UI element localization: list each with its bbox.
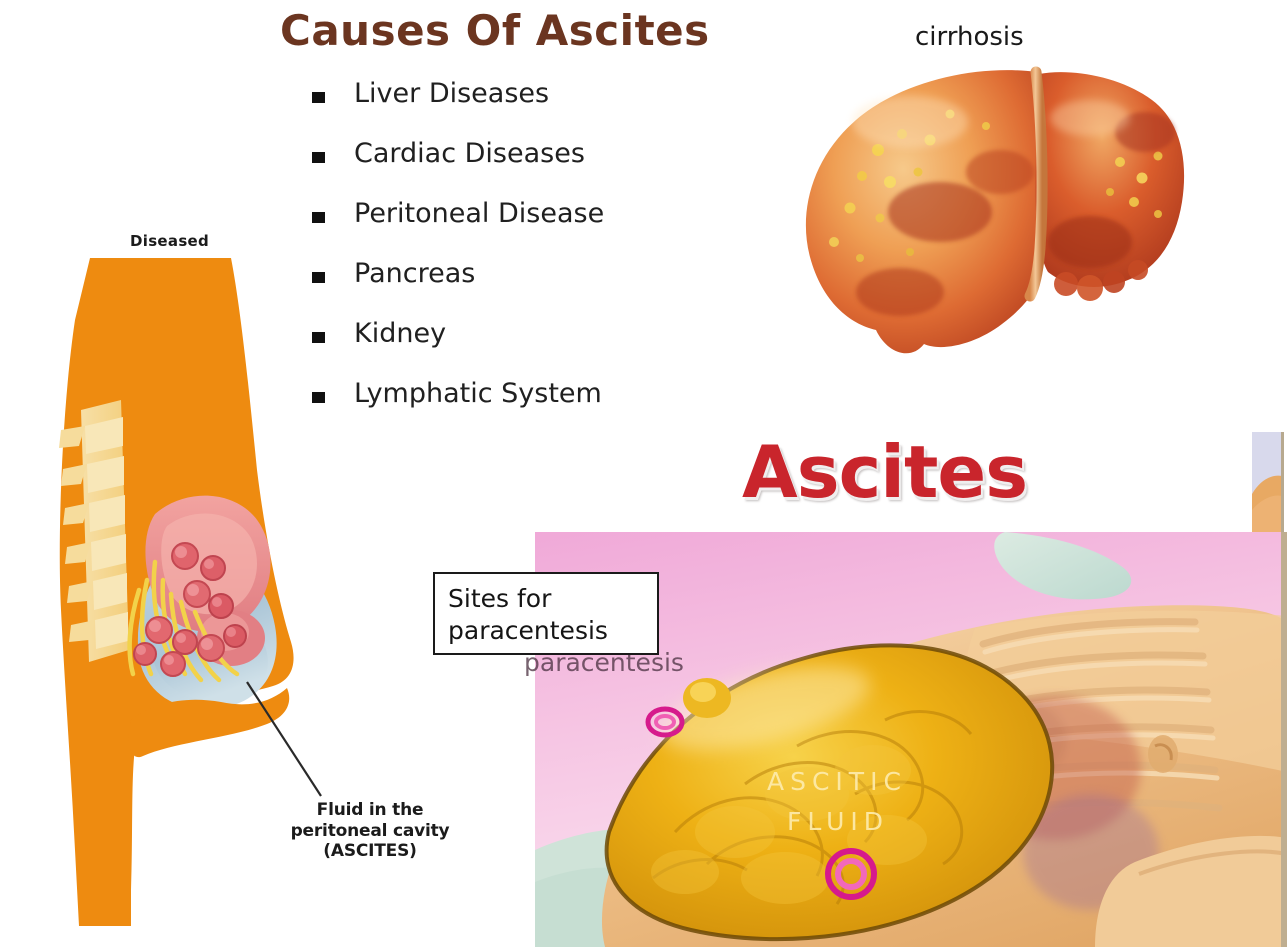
- list-item: Peritoneal Disease: [312, 198, 712, 258]
- square-bullet-icon: [312, 92, 325, 103]
- title-cutoff-overlay: [718, 0, 740, 58]
- list-item-label: Liver Diseases: [354, 78, 549, 109]
- callout-line-1: Sites for: [448, 583, 657, 615]
- square-bullet-icon: [312, 152, 325, 163]
- list-item-label: Lymphatic System: [354, 378, 602, 409]
- list-item: Pancreas: [312, 258, 712, 318]
- diseased-label: Diseased: [130, 232, 209, 250]
- list-item: Lymphatic System: [312, 378, 712, 438]
- ascites-heading: Ascites: [742, 430, 1027, 514]
- list-item-label: Peritoneal Disease: [354, 198, 604, 229]
- svg-text:ASCITIC: ASCITIC: [767, 767, 907, 796]
- list-item-label: Pancreas: [354, 258, 475, 289]
- list-item-label: Cardiac Diseases: [354, 138, 585, 169]
- callout-line-2: paracentesis: [448, 615, 657, 647]
- paracentesis-image-edge-strip: [1246, 432, 1287, 542]
- square-bullet-icon: [312, 212, 325, 223]
- cirrhosis-label: cirrhosis: [915, 22, 1024, 52]
- fluid-caption: Fluid in the peritoneal cavity (ASCITES): [255, 800, 485, 862]
- causes-list: Liver Diseases Cardiac Diseases Peritone…: [312, 78, 712, 438]
- fluid-caption-line-3: (ASCITES): [255, 841, 485, 862]
- sites-for-paracentesis-callout: Sites for paracentesis: [433, 572, 659, 655]
- list-item-label: Kidney: [354, 318, 446, 349]
- svg-text:FLUID: FLUID: [787, 807, 889, 836]
- cirrhotic-liver-image: [790, 52, 1190, 372]
- fluid-caption-line-1: Fluid in the: [255, 800, 485, 821]
- page-title: Causes Of Ascites: [280, 6, 710, 55]
- list-item: Liver Diseases: [312, 78, 712, 138]
- list-item: Cardiac Diseases: [312, 138, 712, 198]
- slide-canvas: Causes Of Ascites Liver Diseases Cardiac…: [0, 0, 1287, 947]
- list-item: Kidney: [312, 318, 712, 378]
- fluid-caption-line-2: peritoneal cavity: [255, 821, 485, 842]
